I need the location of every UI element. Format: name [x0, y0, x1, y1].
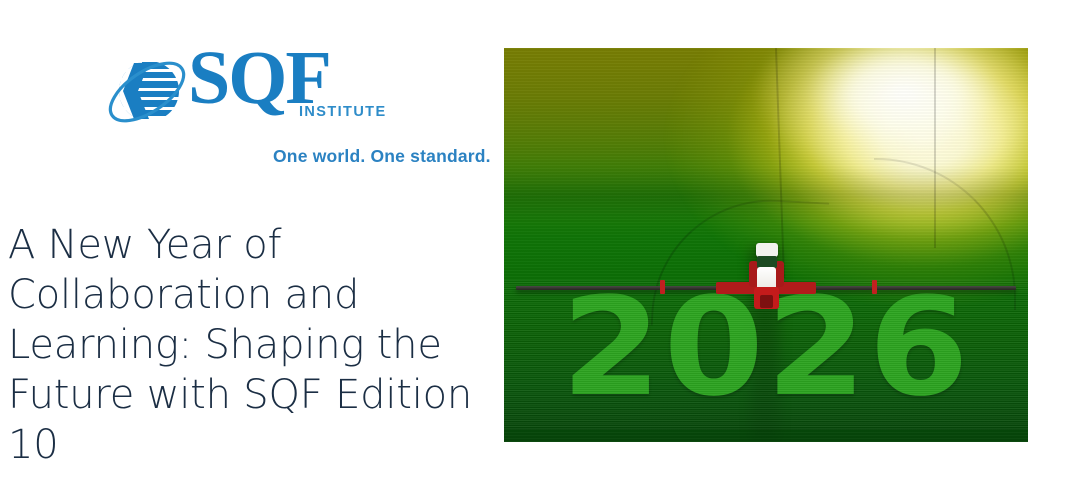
newsletter-hero: SQF INSTITUTE One world. One standard. A…	[0, 0, 1088, 494]
boom-node-right	[872, 280, 877, 294]
globe-orbit-icon	[104, 46, 190, 138]
tractor-hitch	[760, 295, 773, 308]
page-title: A New Year of Collaboration and Learning…	[8, 220, 488, 470]
tractor-cab-roof	[756, 243, 778, 257]
tractor-field-2026-photo: 2026	[504, 48, 1028, 442]
sqf-institute-logo[interactable]: SQF INSTITUTE One world. One standard.	[104, 42, 394, 172]
logo-institute-text: INSTITUTE	[299, 104, 387, 120]
tractor-icon	[742, 243, 790, 313]
logo-wordmark: SQF INSTITUTE One world. One standard.	[188, 42, 398, 134]
boom-node-left	[660, 280, 665, 294]
logo-tagline: One world. One standard.	[273, 146, 491, 167]
